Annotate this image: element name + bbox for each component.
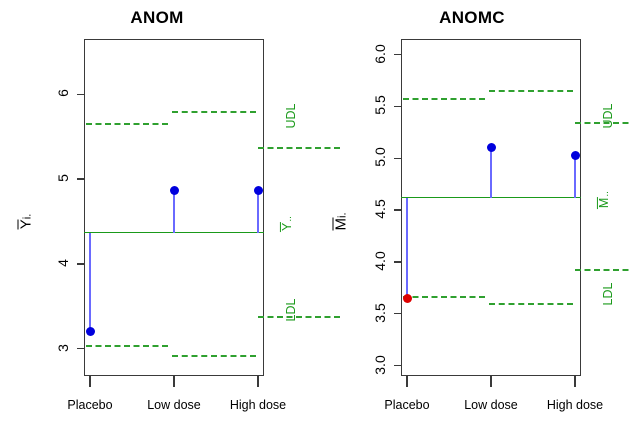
data-point xyxy=(571,151,580,160)
y-tick-mark xyxy=(394,54,401,55)
udl-side-label-anom: UDL xyxy=(284,96,298,136)
lower-decision-limit-segment xyxy=(86,345,168,347)
stem-line xyxy=(574,155,576,198)
upper-decision-limit-segment xyxy=(172,111,256,113)
x-tick-mark xyxy=(490,376,491,387)
y-axis-title-anomc: Mi. xyxy=(333,192,350,252)
y-tick-mark xyxy=(394,209,401,210)
lower-decision-limit-segment xyxy=(575,269,629,271)
center-side-label-sub: .. xyxy=(600,191,611,197)
y-tick-label: 5.0 xyxy=(372,135,388,179)
upper-decision-limit-segment xyxy=(86,123,168,125)
panel-title-anomc: ANOMC xyxy=(315,8,629,28)
y-tick-label: 5 xyxy=(55,156,71,200)
lower-decision-limit-segment xyxy=(172,355,256,357)
udl-side-label-anomc: UDL xyxy=(601,96,615,136)
y-tick-mark xyxy=(77,263,84,264)
stem-line xyxy=(89,233,91,331)
x-tick-label-placebo: Placebo xyxy=(362,398,452,412)
stem-line xyxy=(490,148,492,198)
lower-decision-limit-segment xyxy=(489,303,573,305)
panel-anom: ANOM Yi. 6543PlaceboLow doseHigh dose UD… xyxy=(0,0,314,431)
data-point-out-of-limits xyxy=(403,294,412,303)
x-tick-label-low-dose: Low dose xyxy=(129,398,219,412)
y-tick-label: 3.0 xyxy=(372,343,388,387)
stem-line xyxy=(257,191,259,233)
data-point xyxy=(170,186,179,195)
center-side-label-anomc: M.. xyxy=(597,185,611,215)
x-tick-mark xyxy=(173,376,174,387)
x-tick-label-high-dose: High dose xyxy=(530,398,620,412)
data-point xyxy=(86,327,95,336)
x-tick-mark xyxy=(574,376,575,387)
panel-title-anom: ANOM xyxy=(0,8,314,28)
x-tick-mark xyxy=(257,376,258,387)
y-tick-mark xyxy=(77,178,84,179)
data-point xyxy=(254,186,263,195)
y-axis-title-sub: i. xyxy=(22,214,34,220)
y-tick-label: 5.5 xyxy=(372,83,388,127)
y-tick-mark xyxy=(394,106,401,107)
x-tick-label-high-dose: High dose xyxy=(213,398,303,412)
anom-figure: ANOM Yi. 6543PlaceboLow doseHigh dose UD… xyxy=(0,0,629,431)
y-axis-title-anom: Yi. xyxy=(18,192,35,252)
y-axis-title-sub: i. xyxy=(337,213,349,219)
center-side-label-bar: M xyxy=(597,197,611,209)
y-tick-label: 3 xyxy=(55,326,71,370)
y-axis-title-bar: M xyxy=(333,218,350,231)
upper-decision-limit-segment xyxy=(403,98,485,100)
y-tick-label: 4.0 xyxy=(372,239,388,283)
upper-decision-limit-segment xyxy=(489,90,573,92)
panel-anomc: ANOMC Mi. 6.05.55.04.54.03.53.0PlaceboLo… xyxy=(315,0,629,431)
y-tick-label: 4 xyxy=(55,241,71,285)
center-side-label-bar: Y xyxy=(280,222,294,232)
y-tick-label: 3.5 xyxy=(372,291,388,335)
y-tick-mark xyxy=(394,365,401,366)
y-tick-label: 6 xyxy=(55,71,71,115)
x-tick-label-placebo: Placebo xyxy=(45,398,135,412)
x-tick-mark xyxy=(89,376,90,387)
x-tick-mark xyxy=(406,376,407,387)
stem-line xyxy=(173,190,175,232)
data-point xyxy=(487,143,496,152)
center-side-label-sub: .. xyxy=(283,216,294,222)
x-tick-label-low-dose: Low dose xyxy=(446,398,536,412)
y-tick-mark xyxy=(394,158,401,159)
y-tick-label: 6.0 xyxy=(372,32,388,76)
center-side-label-anom: Y.. xyxy=(280,209,294,239)
y-tick-label: 4.5 xyxy=(372,187,388,231)
lower-decision-limit-segment xyxy=(403,296,485,298)
ldl-side-label-anomc: LDL xyxy=(601,274,615,314)
y-axis-title-bar: Y xyxy=(18,219,35,229)
y-tick-mark xyxy=(77,348,84,349)
y-tick-mark xyxy=(77,94,84,95)
y-tick-mark xyxy=(394,261,401,262)
ldl-side-label-anom: LDL xyxy=(284,290,298,330)
stem-line xyxy=(406,198,408,299)
y-tick-mark xyxy=(394,313,401,314)
